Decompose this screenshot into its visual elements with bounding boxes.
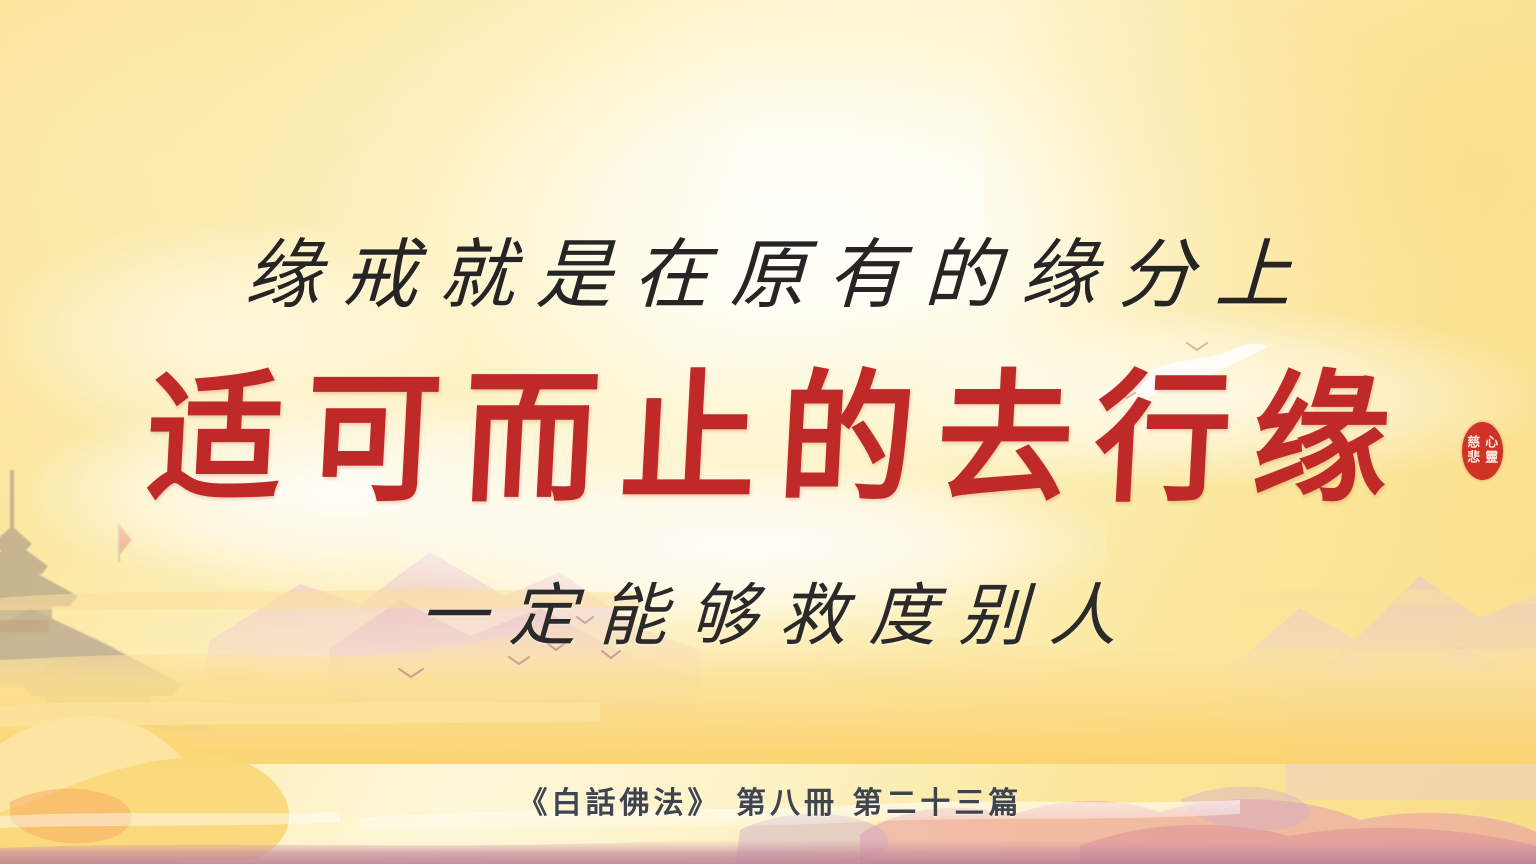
red-seal-stamp-icon: 慈 心 悲 靈 (1462, 422, 1503, 480)
headline-line-bottom: 一定能够救度别人 (0, 582, 1536, 650)
headline-line-top: 缘戒就是在原有的缘分上 (0, 238, 1536, 314)
source-attribution: 《白話佛法》 第八冊 第二十三篇 (0, 778, 1536, 822)
poster-text-content: 缘戒就是在原有的缘分上 适可而止的去行缘 一定能够救度别人 《白話佛法》 第八冊… (0, 0, 1536, 864)
seal-char-4: 靈 (1483, 452, 1499, 466)
seal-char-1: 慈 (1466, 437, 1482, 451)
seal-char-2: 心 (1483, 437, 1499, 451)
seal-char-3: 悲 (1466, 452, 1482, 466)
poster-canvas: 缘戒就是在原有的缘分上 适可而止的去行缘 一定能够救度别人 《白話佛法》 第八冊… (0, 0, 1536, 864)
headline-line-red: 适可而止的去行缘 (0, 369, 1536, 510)
